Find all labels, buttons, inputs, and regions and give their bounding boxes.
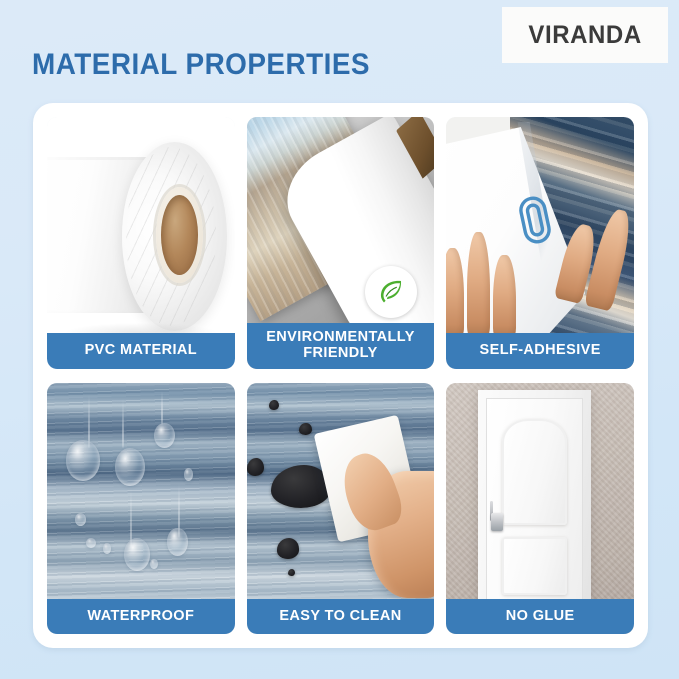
feature-card-no-glue[interactable]: NO GLUE bbox=[446, 383, 634, 635]
features-panel: PVC MATERIAL ENVIRONME bbox=[33, 103, 648, 648]
feature-label-pvc-material: PVC MATERIAL bbox=[47, 333, 235, 368]
page-header: MATERIAL PROPERTIES VIRANDA bbox=[0, 0, 679, 103]
left-hand bbox=[446, 223, 529, 339]
feature-card-pvc-material[interactable]: PVC MATERIAL bbox=[47, 117, 235, 369]
feature-label-easy-to-clean: EASY TO CLEAN bbox=[247, 599, 435, 634]
brand-logo-text: VIRANDA bbox=[528, 21, 641, 50]
brand-logo: VIRANDA bbox=[502, 7, 668, 63]
feature-label-environmentally-friendly: ENVIRONMENTALLY FRIENDLY bbox=[247, 323, 435, 368]
feature-label-waterproof: WATERPROOF bbox=[47, 599, 235, 634]
feature-card-waterproof[interactable]: WATERPROOF bbox=[47, 383, 235, 635]
feature-label-no-glue: NO GLUE bbox=[446, 599, 634, 634]
feature-card-easy-to-clean[interactable]: EASY TO CLEAN bbox=[247, 383, 435, 635]
waterproof-droplets-image bbox=[47, 383, 235, 635]
features-grid: PVC MATERIAL ENVIRONME bbox=[47, 117, 634, 634]
page-title: MATERIAL PROPERTIES bbox=[32, 48, 370, 82]
feature-card-environmentally-friendly[interactable]: ENVIRONMENTALLY FRIENDLY bbox=[247, 117, 435, 369]
no-glue-door-image bbox=[446, 383, 634, 635]
cleaning-hand bbox=[344, 443, 434, 619]
pvc-roll-image bbox=[47, 117, 235, 369]
feature-label-self-adhesive: SELF-ADHESIVE bbox=[446, 333, 634, 368]
feature-card-self-adhesive[interactable]: SELF-ADHESIVE bbox=[446, 117, 634, 369]
feature-label-line-1: ENVIRONMENTALLY bbox=[251, 329, 431, 345]
easy-to-clean-image bbox=[247, 383, 435, 635]
self-adhesive-peel-image bbox=[446, 117, 634, 369]
feature-label-line-2: FRIENDLY bbox=[251, 345, 431, 361]
